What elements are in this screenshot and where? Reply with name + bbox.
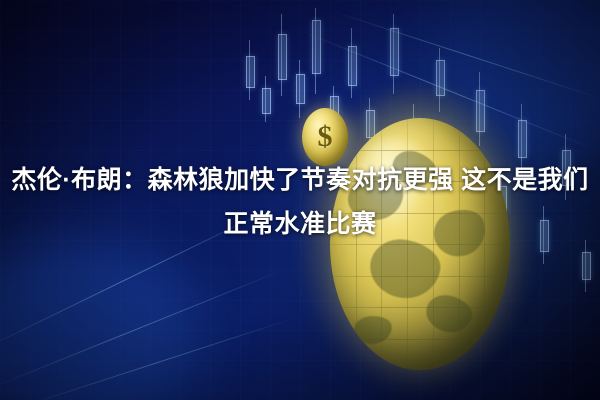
promo-image: $ 杰伦·布朗：森林狼加快了节奏对抗更强 这不是我们正常水准比赛 [0,0,600,400]
headline-text: 杰伦·布朗：森林狼加快了节奏对抗更强 这不是我们正常水准比赛 [0,158,600,246]
